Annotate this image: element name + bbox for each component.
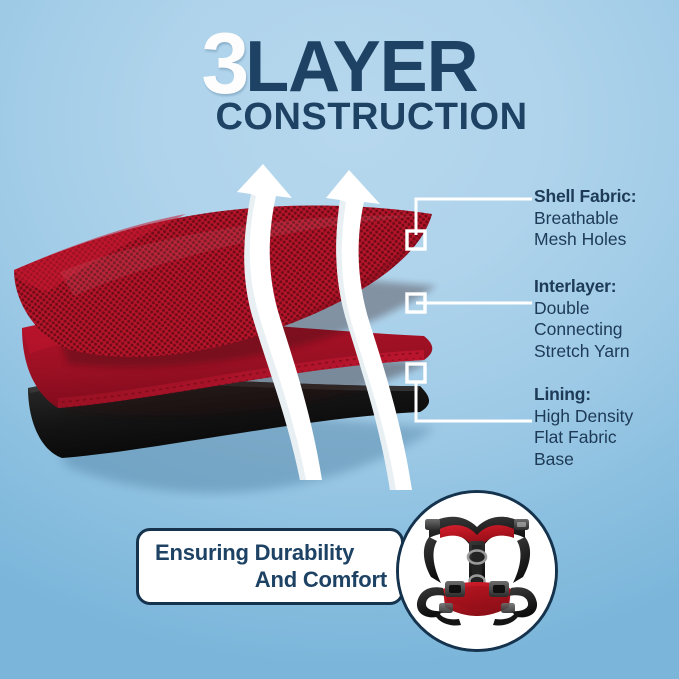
tagline-banner: Ensuring Durability And Comfort bbox=[136, 528, 404, 605]
callout-heading: Shell Fabric: bbox=[534, 186, 636, 208]
tagline-line-2: And Comfort bbox=[155, 567, 387, 594]
callout-line: Double bbox=[534, 298, 630, 320]
dog-harness-illustration bbox=[399, 493, 555, 649]
callout-line: Breathable bbox=[534, 208, 636, 230]
product-image-circle bbox=[396, 490, 558, 652]
infographic-canvas: 3LAYER CONSTRUCTION bbox=[0, 0, 679, 679]
callout-line: Base bbox=[534, 449, 633, 471]
title-subword: CONSTRUCTION bbox=[0, 96, 679, 139]
tagline-line-1: Ensuring Durability bbox=[155, 540, 387, 567]
callout-line: High Density bbox=[534, 406, 633, 428]
title-line-1: 3LAYER bbox=[0, 28, 679, 102]
callout-shell-fabric: Shell Fabric: Breathable Mesh Holes bbox=[534, 186, 636, 251]
callout-line: Connecting bbox=[534, 319, 630, 341]
callout-line: Mesh Holes bbox=[534, 229, 636, 251]
callout-line: Flat Fabric bbox=[534, 427, 633, 449]
callout-heading: Lining: bbox=[534, 384, 633, 406]
callout-lining: Lining: High Density Flat Fabric Base bbox=[534, 384, 633, 471]
callout-line: Stretch Yarn bbox=[534, 341, 630, 363]
callout-heading: Interlayer: bbox=[534, 276, 630, 298]
page-title: 3LAYER CONSTRUCTION bbox=[0, 28, 679, 139]
callout-interlayer: Interlayer: Double Connecting Stretch Ya… bbox=[534, 276, 630, 363]
tagline-text: Ensuring Durability And Comfort bbox=[155, 540, 387, 594]
layer-illustration bbox=[0, 150, 460, 500]
